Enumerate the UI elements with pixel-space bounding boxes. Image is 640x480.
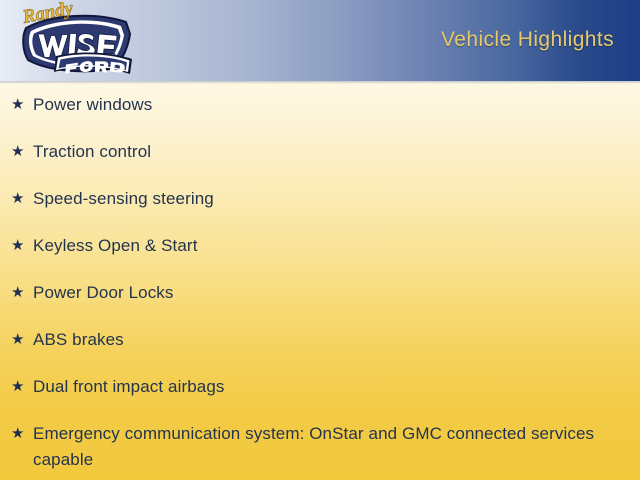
feature-label: Emergency communication system: OnStar a… <box>33 421 640 473</box>
list-item: ★ Keyless Open & Start <box>0 233 640 280</box>
list-item: ★ Power windows <box>0 92 640 139</box>
star-bullet-icon: ★ <box>8 327 33 353</box>
randy-wise-ford-logo-icon: Randy <box>10 2 140 84</box>
star-bullet-icon: ★ <box>8 139 33 165</box>
dealership-logo[interactable]: Randy <box>10 2 140 84</box>
vehicle-highlights-list: ★ Power windows ★ Traction control ★ Spe… <box>0 92 640 473</box>
vehicle-highlights-slide: Vehicle Highlights <box>0 0 640 480</box>
list-item: ★ ABS brakes <box>0 327 640 374</box>
page-title: Vehicle Highlights <box>441 28 614 52</box>
feature-label: Keyless Open & Start <box>33 233 640 259</box>
feature-label: Power Door Locks <box>33 280 640 306</box>
star-bullet-icon: ★ <box>8 374 33 400</box>
feature-label: Power windows <box>33 92 640 118</box>
star-bullet-icon: ★ <box>8 92 33 118</box>
feature-label: Speed-sensing steering <box>33 186 640 212</box>
list-item: ★ Power Door Locks <box>0 280 640 327</box>
list-item: ★ Speed-sensing steering <box>0 186 640 233</box>
list-item: ★ Emergency communication system: OnStar… <box>0 421 640 473</box>
list-item: ★ Traction control <box>0 139 640 186</box>
star-bullet-icon: ★ <box>8 280 33 306</box>
feature-label: Traction control <box>33 139 640 165</box>
feature-label: ABS brakes <box>33 327 640 353</box>
star-bullet-icon: ★ <box>8 186 33 212</box>
feature-label: Dual front impact airbags <box>33 374 640 400</box>
list-item: ★ Dual front impact airbags <box>0 374 640 421</box>
star-bullet-icon: ★ <box>8 421 33 447</box>
star-bullet-icon: ★ <box>8 233 33 259</box>
